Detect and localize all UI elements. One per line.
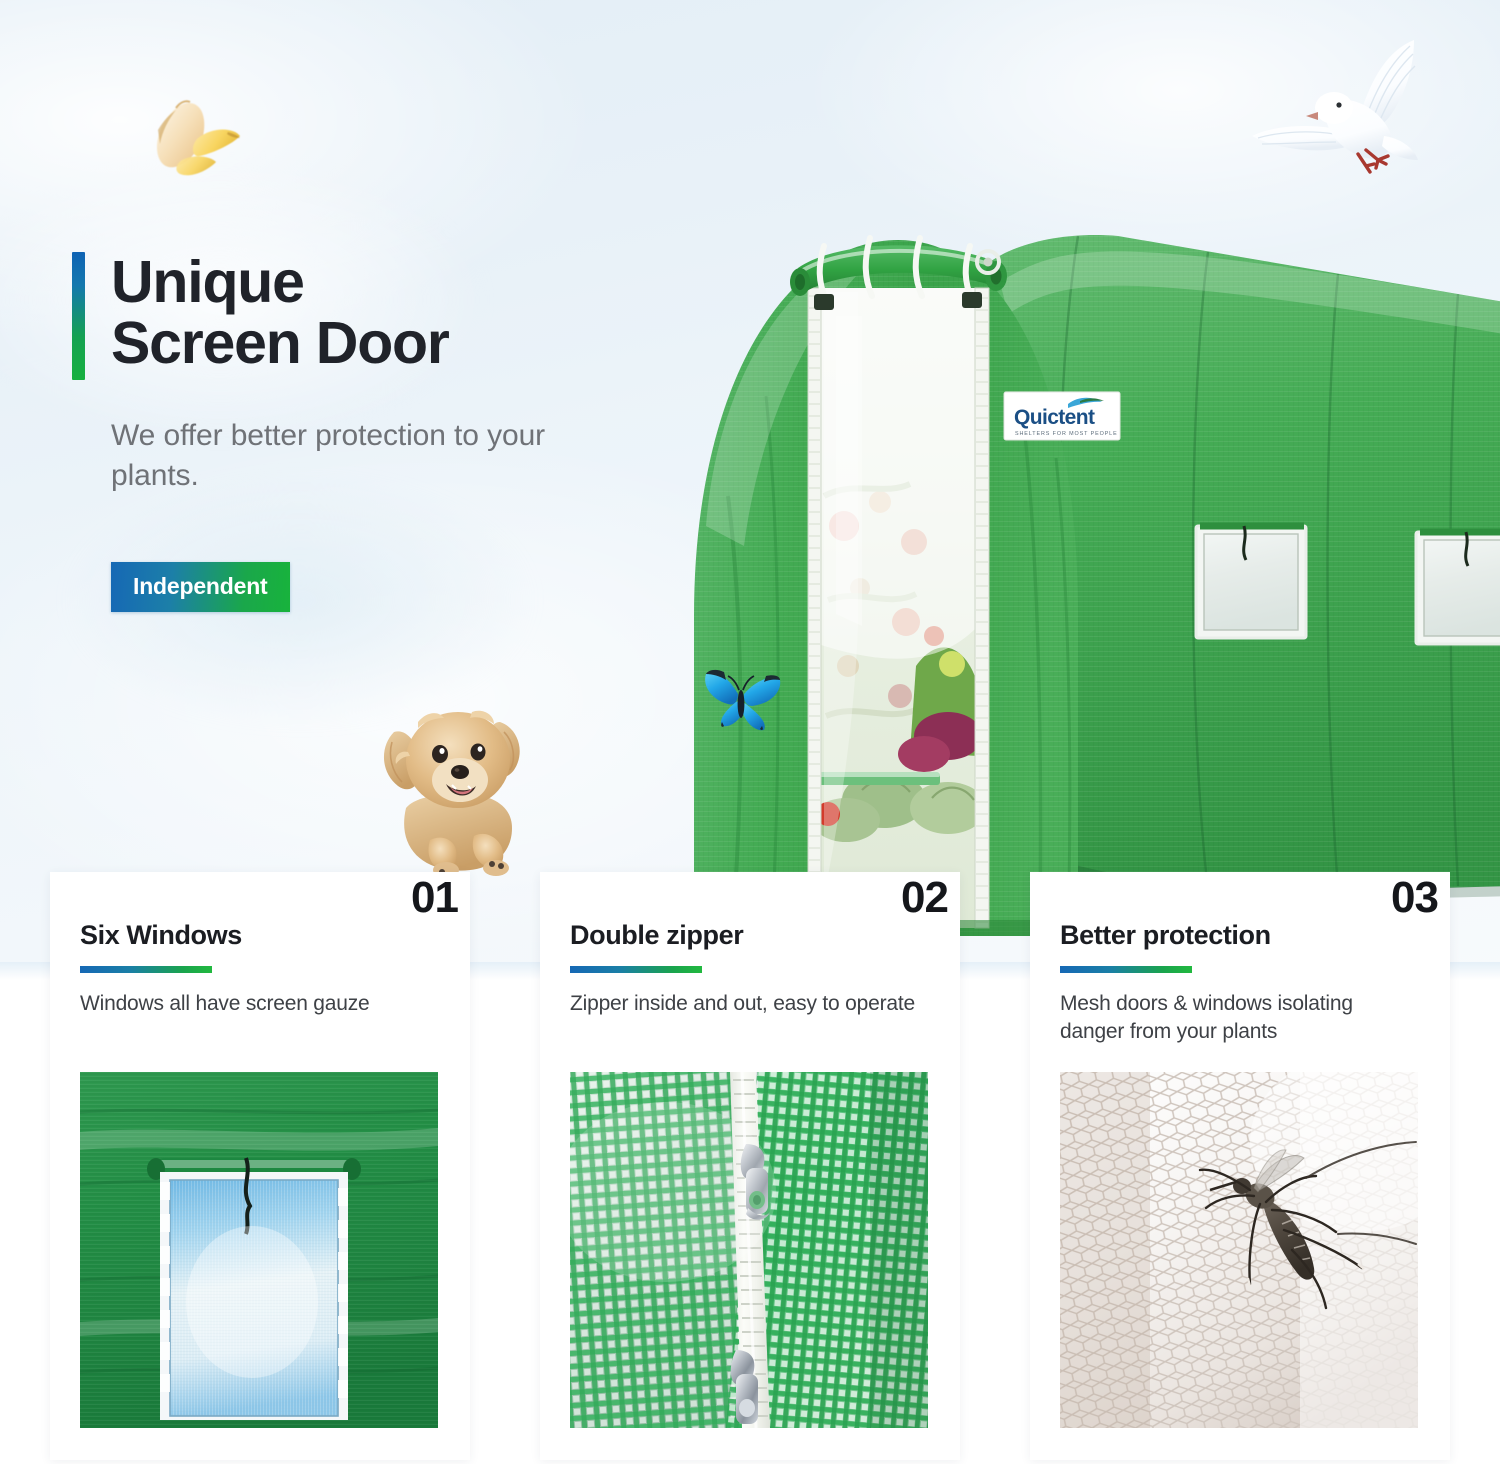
greenhouse-product-image: Quictent SHELTERS FOR MOST PEOPLE — [648, 196, 1500, 956]
svg-text:SHELTERS FOR MOST PEOPLE: SHELTERS FOR MOST PEOPLE — [1015, 431, 1118, 437]
card-description: Windows all have screen gauze — [80, 990, 440, 1018]
mosquito-on-mesh-photo — [1060, 1072, 1418, 1428]
side-window-1 — [1196, 526, 1306, 638]
dove-icon — [1238, 32, 1420, 180]
hero-subheadline: We offer better protection to your plant… — [111, 416, 581, 496]
card-accent-rule — [570, 966, 702, 973]
svg-text:Quictent: Quictent — [1014, 406, 1095, 429]
butterfly-icon — [128, 86, 244, 190]
card-accent-rule — [80, 966, 212, 973]
headline-line-1: Unique — [111, 249, 304, 315]
card-title: Double zipper — [570, 920, 743, 951]
accent-bar-gradient — [72, 252, 85, 380]
hero-text-block: Unique Screen Door We offer better prote… — [72, 252, 692, 612]
card-title: Better protection — [1060, 920, 1271, 951]
puppy-icon — [372, 690, 548, 876]
poster-canvas: Quictent SHELTERS FOR MOST PEOPLE — [0, 0, 1500, 1464]
brand-patch: Quictent SHELTERS FOR MOST PEOPLE — [1004, 392, 1120, 440]
card-number-badge: 03 — [1373, 872, 1450, 928]
blue-butterfly-icon — [694, 660, 788, 736]
feature-card[interactable]: Six Windows Windows all have screen gauz… — [50, 872, 470, 1460]
feature-card[interactable]: Better protection Mesh doors & windows i… — [1030, 872, 1450, 1460]
feature-cards-row: Six Windows Windows all have screen gauz… — [0, 872, 1500, 1464]
card-description: Mesh doors & windows isolating danger fr… — [1060, 990, 1420, 1045]
double-zipper-closeup-photo — [570, 1072, 928, 1428]
page-title: Unique Screen Door — [111, 252, 449, 380]
card-number-badge: 01 — [393, 872, 470, 928]
headline-line-2: Screen Door — [111, 313, 449, 374]
card-accent-rule — [1060, 966, 1192, 973]
greenhouse-window-screen-photo — [80, 1072, 438, 1428]
card-description: Zipper inside and out, easy to operate — [570, 990, 930, 1018]
buckle-tab — [962, 292, 982, 308]
independent-badge[interactable]: Independent — [111, 562, 290, 612]
feature-card[interactable]: Double zipper Zipper inside and out, eas… — [540, 872, 960, 1460]
card-title: Six Windows — [80, 920, 242, 951]
side-window-2 — [1416, 532, 1500, 644]
buckle-tab — [814, 294, 834, 310]
card-number-badge: 02 — [883, 872, 960, 928]
